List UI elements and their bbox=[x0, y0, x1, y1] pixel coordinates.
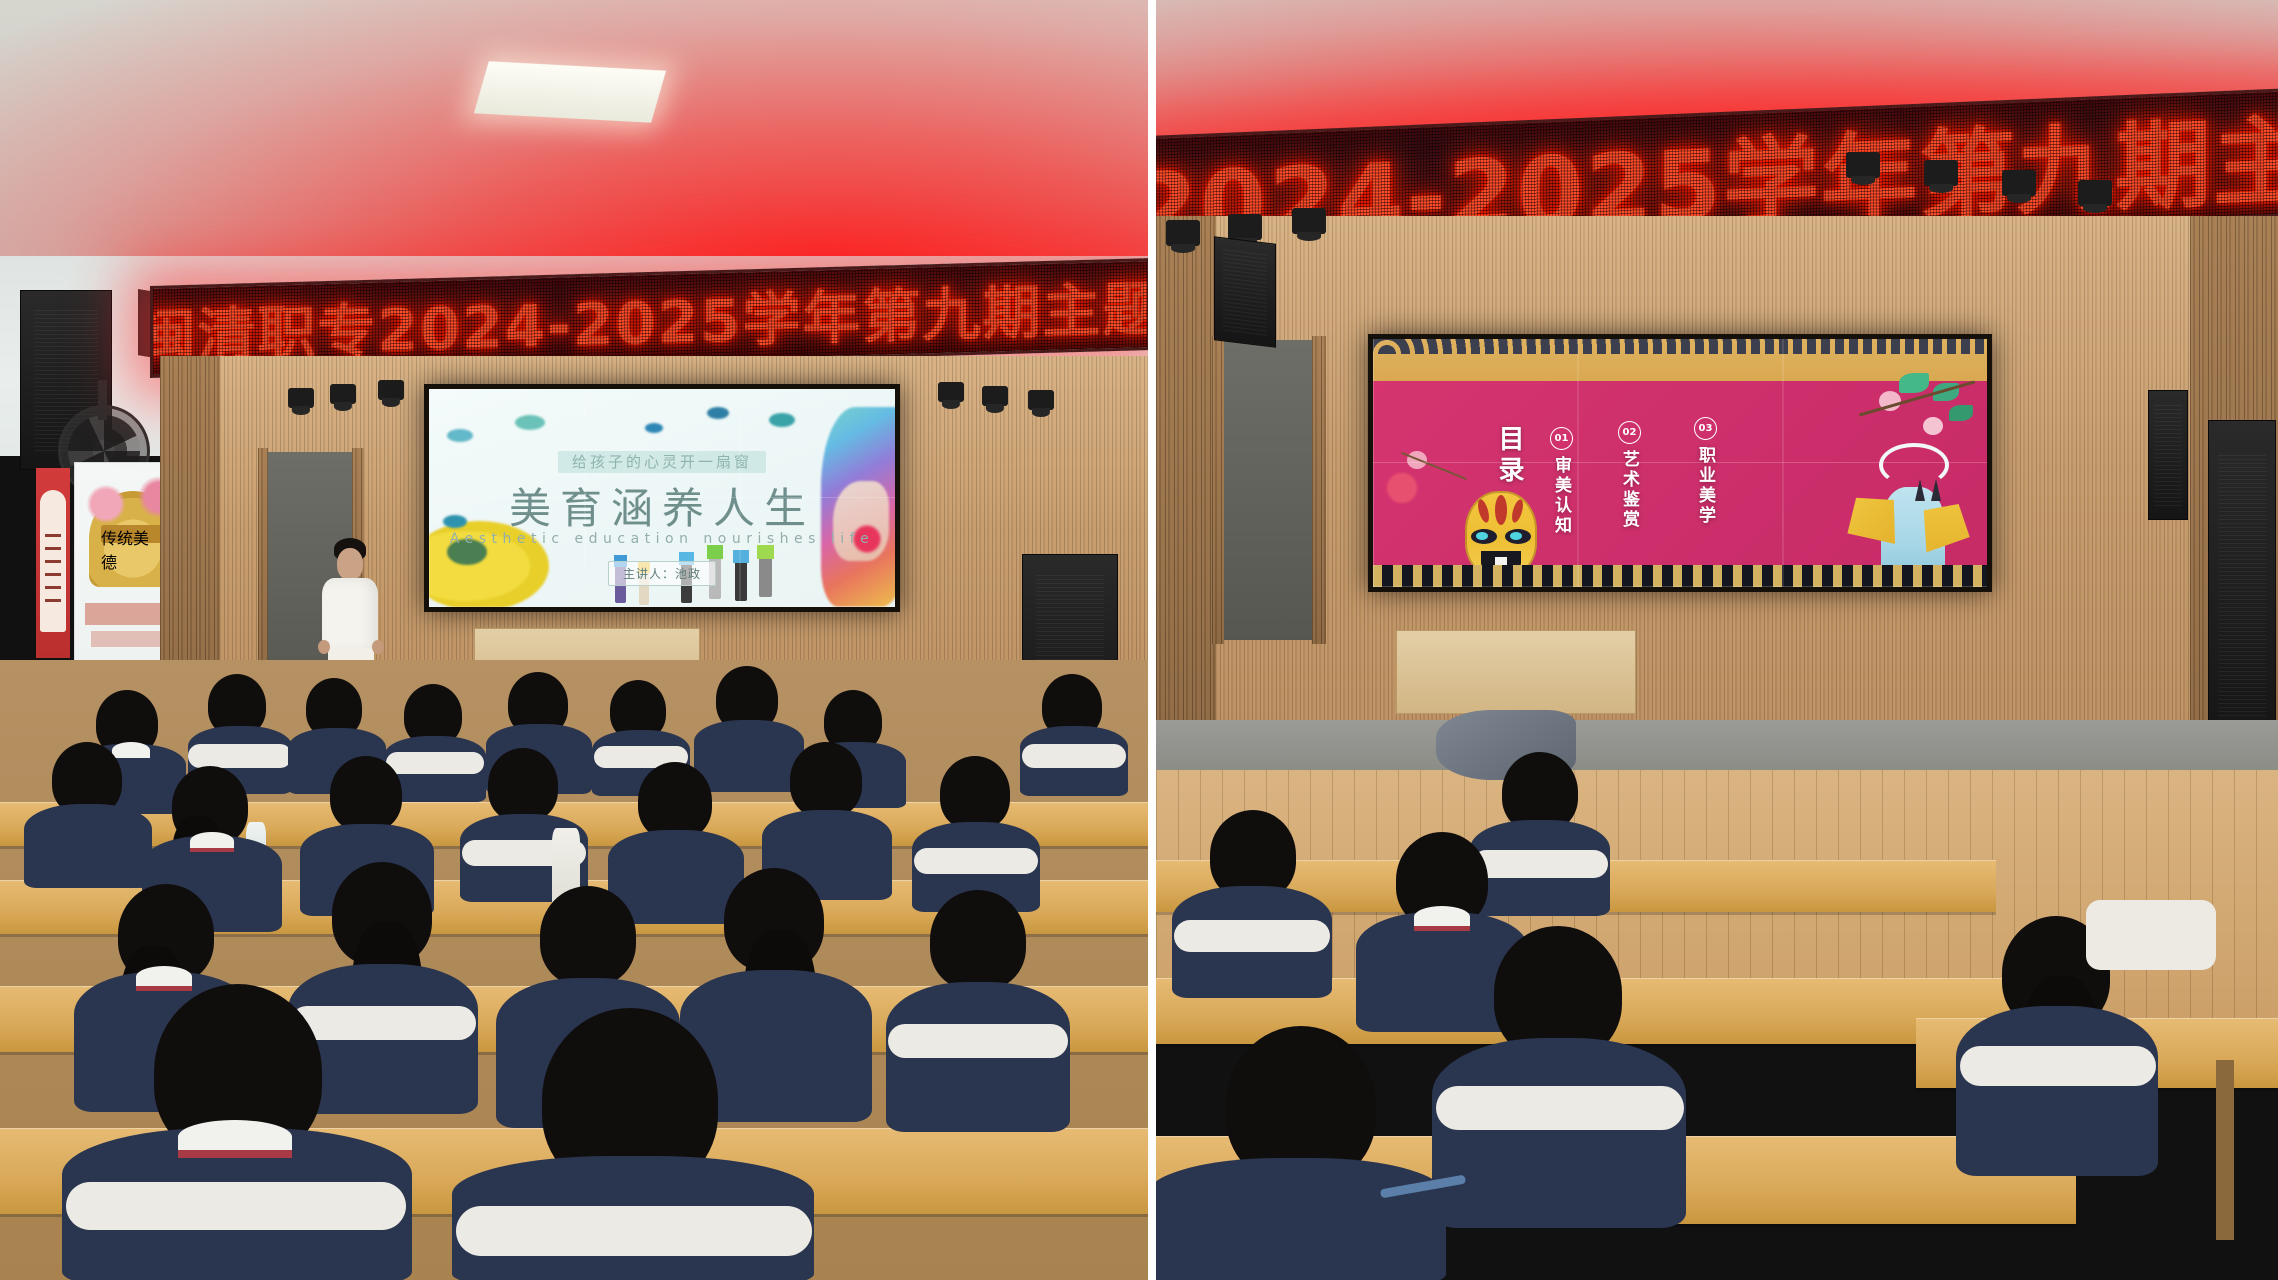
track-light-icon bbox=[378, 380, 404, 400]
chair-leg bbox=[2216, 1060, 2234, 1240]
door-frame-left bbox=[1212, 336, 1224, 644]
presenter-hand bbox=[372, 640, 384, 654]
speaker-icon bbox=[2208, 420, 2276, 750]
wall-banner-red bbox=[36, 468, 70, 658]
speaker-icon bbox=[2148, 390, 2188, 520]
slide-item-02: 02 艺术鉴赏 bbox=[1617, 421, 1642, 530]
presenter-hand bbox=[318, 640, 330, 654]
screenshot-root: 传统美德 闽清职专2024-2025学年第九期主题 bbox=[0, 0, 2278, 1280]
slide-item-label: 艺术鉴赏 bbox=[1617, 450, 1642, 530]
presenter-shirt bbox=[322, 578, 378, 652]
ceiling-tile-grid bbox=[0, 0, 1148, 300]
slide-item-number: 02 bbox=[1618, 421, 1641, 444]
slide-item-label: 职业美学 bbox=[1693, 446, 1718, 526]
slide-item-01: 01 审美认知 bbox=[1549, 427, 1574, 536]
track-light-icon bbox=[1028, 390, 1054, 410]
track-light-icon bbox=[1924, 160, 1958, 186]
slide-item-label: 审美认知 bbox=[1549, 456, 1574, 536]
track-light-icon bbox=[1846, 152, 1880, 178]
slide-bottom-band bbox=[1373, 565, 1987, 587]
fan-mount bbox=[98, 380, 107, 420]
doorway bbox=[1218, 340, 1316, 640]
ceiling-panel-light-icon bbox=[474, 61, 666, 122]
slide-item-number: 03 bbox=[1694, 417, 1717, 440]
track-light-icon bbox=[1166, 220, 1200, 246]
track-light-icon bbox=[288, 388, 314, 408]
video-wall-screen: 目录 01 审美认知 02 艺术鉴赏 03 职业美学 bbox=[1368, 334, 1992, 592]
slide-heading: 目录 bbox=[1491, 425, 1528, 487]
track-light-icon bbox=[982, 386, 1008, 406]
panel-divider bbox=[1148, 0, 1156, 1280]
slide-aesthetic-education: 给孩子的心灵开一扇窗 美育涵养人生 Aesthetic education no… bbox=[429, 389, 895, 607]
slide-english-subtitle: Aesthetic education nourishes life bbox=[429, 531, 895, 547]
slide-title: 美育涵养人生 bbox=[429, 475, 895, 536]
track-light-icon bbox=[2078, 180, 2112, 206]
door-frame-right bbox=[1312, 336, 1326, 644]
slide-item-03: 03 职业美学 bbox=[1693, 417, 1718, 526]
track-light-icon bbox=[1292, 208, 1326, 234]
slide-presenter: 主讲人：池政 bbox=[608, 561, 716, 586]
slide-roof-tiles bbox=[1373, 339, 1987, 354]
track-light-icon bbox=[330, 384, 356, 404]
slide-subtitle: 给孩子的心灵开一扇窗 bbox=[558, 451, 766, 473]
track-light-icon bbox=[2002, 170, 2036, 196]
right-photo: 专2024-2025学年第九期主题 bbox=[1156, 0, 2278, 1280]
slide-item-number: 01 bbox=[1550, 427, 1573, 450]
cloth-on-desk bbox=[2086, 900, 2216, 970]
slide-contents: 目录 01 审美认知 02 艺术鉴赏 03 职业美学 bbox=[1373, 339, 1987, 587]
presenter-head bbox=[337, 548, 363, 580]
left-photo: 传统美德 闽清职专2024-2025学年第九期主题 bbox=[0, 0, 1148, 1280]
ceiling bbox=[0, 0, 1148, 300]
stage-bench bbox=[1396, 630, 1636, 714]
poster-title: 传统美德 bbox=[101, 525, 163, 543]
video-wall-screen: 给孩子的心灵开一扇窗 美育涵养人生 Aesthetic education no… bbox=[424, 384, 900, 612]
track-light-icon bbox=[938, 382, 964, 402]
speaker-icon bbox=[1214, 236, 1276, 348]
track-light-icon bbox=[1228, 214, 1262, 240]
